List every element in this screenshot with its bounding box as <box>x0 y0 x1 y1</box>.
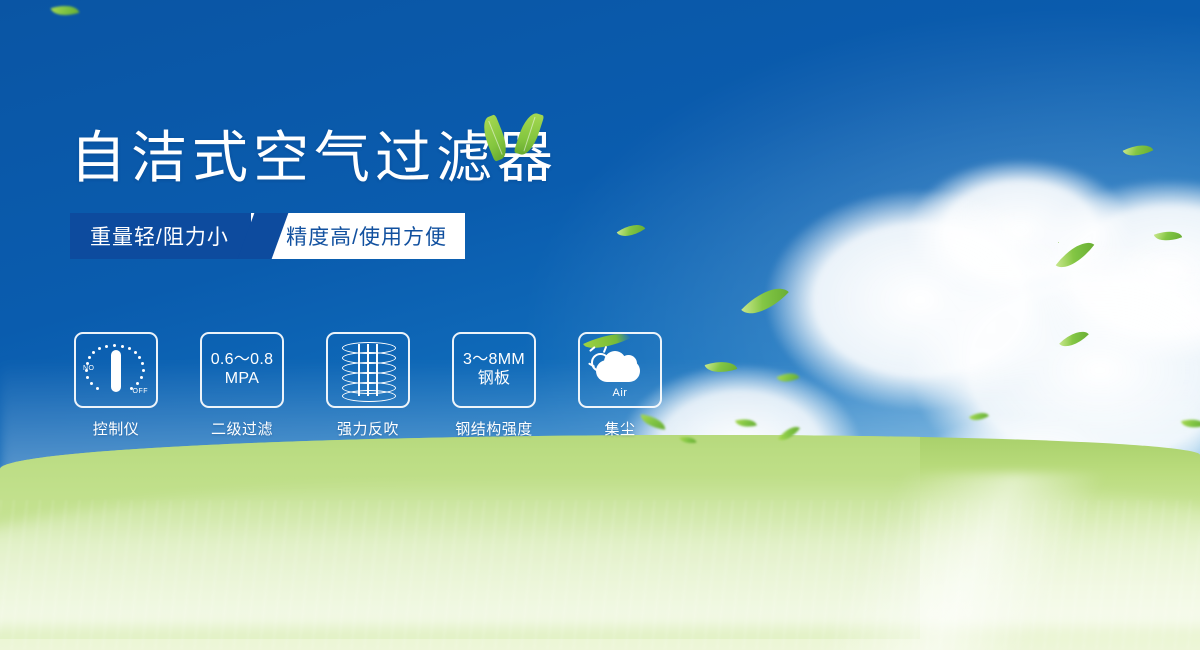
feature-item-control[interactable]: NO OFF 控制仪 <box>74 332 158 439</box>
grass-glow <box>0 520 1200 650</box>
air-label: Air <box>588 387 652 399</box>
headline-block: 自洁式空气过滤器 重量轻/阻力小 精度高/使用方便 <box>70 128 710 259</box>
feature-label: 集尘 <box>604 418 635 439</box>
dial-label-off: OFF <box>133 388 149 395</box>
filter-stack-icon <box>342 341 394 399</box>
steel-thickness: 3～8MM <box>463 351 525 368</box>
floating-leaf-icon <box>1058 242 1059 243</box>
feature-icon-box: 3～8MM 钢板 <box>452 332 536 408</box>
dial-needle-icon <box>111 350 121 392</box>
floating-leaf-icon <box>777 368 800 387</box>
feature-item-filtration[interactable]: 0.6～0.8 MPA 二级过滤 <box>200 332 284 439</box>
feature-icon-box <box>326 332 410 408</box>
subtitle-tag-primary: 重量轻/阻力小 <box>70 213 251 259</box>
floating-leaf-icon <box>735 416 757 431</box>
feature-list: NO OFF 控制仪 0.6～0.8 MPA 二级过滤 <box>74 332 662 439</box>
grass-field <box>0 435 1200 650</box>
sprout-decoration-icon <box>470 110 560 166</box>
cloud-air-icon: Air <box>588 342 652 398</box>
feature-item-blowback[interactable]: 强力反吹 <box>326 332 410 439</box>
floating-leaf-icon <box>1059 324 1089 354</box>
pressure-unit: MPA <box>211 370 274 389</box>
cloud-body-icon <box>596 360 640 382</box>
feature-label: 强力反吹 <box>337 418 399 439</box>
floating-leaf-icon <box>1123 139 1154 163</box>
pressure-range: 0.6～0.8 <box>211 351 274 368</box>
feature-item-steel[interactable]: 3～8MM 钢板 钢结构强度 <box>452 332 536 439</box>
floating-leaf-icon <box>1056 234 1095 277</box>
feature-icon-box: NO OFF <box>74 332 158 408</box>
subtitle-tag-secondary-label: 精度高/使用方便 <box>286 221 447 251</box>
sprout-leaf-right-icon <box>514 110 545 157</box>
sprout-leaf-left-icon <box>478 114 511 162</box>
floating-leaf-icon <box>705 356 738 379</box>
feature-label: 控制仪 <box>93 418 140 439</box>
dial-label-on: NO <box>83 365 95 372</box>
product-banner: 自洁式空气过滤器 重量轻/阻力小 精度高/使用方便 <box>0 0 1200 650</box>
feature-icon-box: Air <box>578 332 662 408</box>
pressure-text-icon: 0.6～0.8 MPA <box>211 351 274 389</box>
feature-label: 钢结构强度 <box>455 418 533 439</box>
subtitle-bar: 重量轻/阻力小 精度高/使用方便 <box>70 213 465 259</box>
feature-label: 二级过滤 <box>211 418 273 439</box>
floating-leaf-icon <box>969 408 989 425</box>
control-dial-icon: NO OFF <box>82 339 150 401</box>
page-title: 自洁式空气过滤器 <box>70 128 710 187</box>
steel-plate-text-icon: 3～8MM 钢板 <box>463 351 525 389</box>
floating-leaf-icon <box>51 0 80 20</box>
feature-icon-box: 0.6～0.8 MPA <box>200 332 284 408</box>
floating-leaf-icon <box>741 277 789 325</box>
feature-item-dust[interactable]: Air 集尘 <box>578 332 662 439</box>
steel-material: 钢板 <box>463 370 525 389</box>
floating-leaf-icon <box>1154 226 1183 246</box>
subtitle-tag-primary-label: 重量轻/阻力小 <box>90 221 229 251</box>
cloud-upper-right <box>840 60 1200 360</box>
floating-leaf-icon <box>1181 415 1200 432</box>
